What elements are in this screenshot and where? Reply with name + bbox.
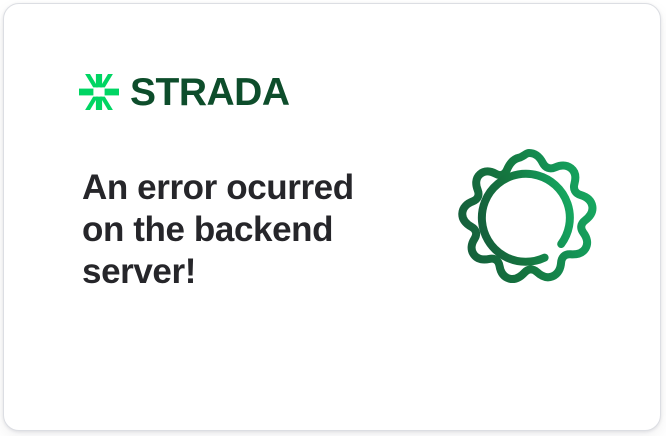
error-message: An error ocurred on the backend server!: [82, 167, 382, 293]
error-card: STRADA An error ocurred on the backend s…: [3, 3, 661, 431]
brand-lockup: STRADA: [79, 72, 290, 112]
brand-wordmark: STRADA: [130, 73, 290, 112]
strada-asterisk-icon: [79, 72, 119, 112]
